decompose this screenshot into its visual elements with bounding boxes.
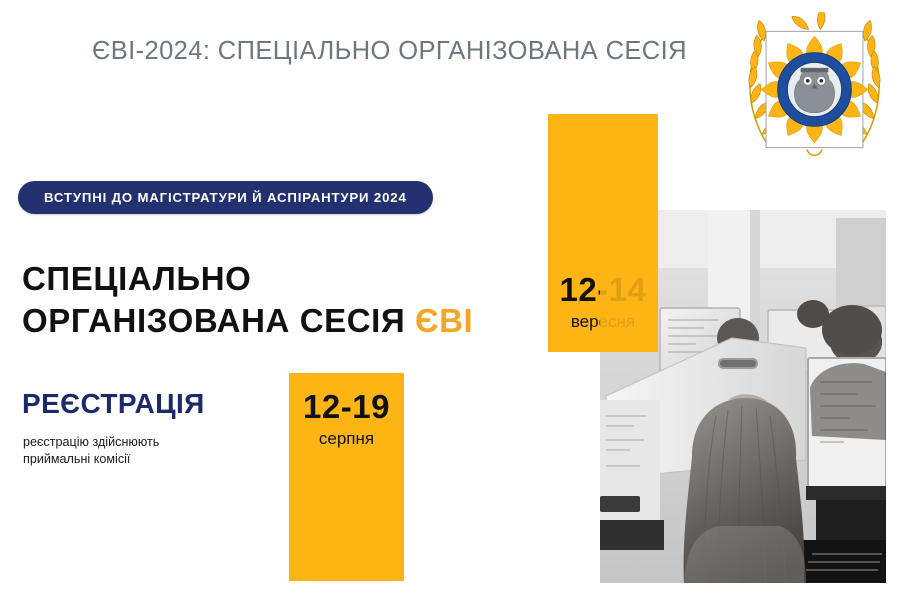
headline-line-2: ОРГАНІЗОВАНА СЕСІЯ: [22, 302, 405, 339]
admissions-badge-label: ВСТУПНІ ДО МАГІСТРАТУРИ Й АСПІРАНТУРИ 20…: [44, 190, 407, 205]
headline-accent: ЄВІ: [415, 302, 473, 339]
registration-note: реєстрацію здійснюють приймальні комісії: [23, 434, 253, 467]
registration-note-line-2: приймальні комісії: [23, 452, 130, 466]
page-title: ЄВІ-2024: СПЕЦІАЛЬНО ОРГАНІЗОВАНА СЕСІЯ: [92, 37, 687, 66]
registration-note-line-1: реєстрацію здійснюють: [23, 435, 159, 449]
university-emblem: [737, 12, 892, 167]
registration-date-month: серпня: [289, 430, 404, 447]
poster-canvas: ЄВІ-2024: СПЕЦІАЛЬНО ОРГАНІЗОВАНА СЕСІЯ: [0, 0, 900, 600]
admissions-badge: ВСТУПНІ ДО МАГІСТРАТУРИ Й АСПІРАНТУРИ 20…: [18, 181, 433, 214]
registration-title: РЕЄСТРАЦІЯ: [22, 388, 205, 420]
registration-date-range: 12-19: [289, 390, 404, 423]
headline: СПЕЦІАЛЬНО ОРГАНІЗОВАНА СЕСІЯ ЄВІ: [22, 258, 522, 342]
registration-date-card: 12-19 серпня: [289, 373, 404, 581]
headline-line-1: СПЕЦІАЛЬНО: [22, 260, 251, 297]
session-card-overlay: [600, 210, 658, 352]
